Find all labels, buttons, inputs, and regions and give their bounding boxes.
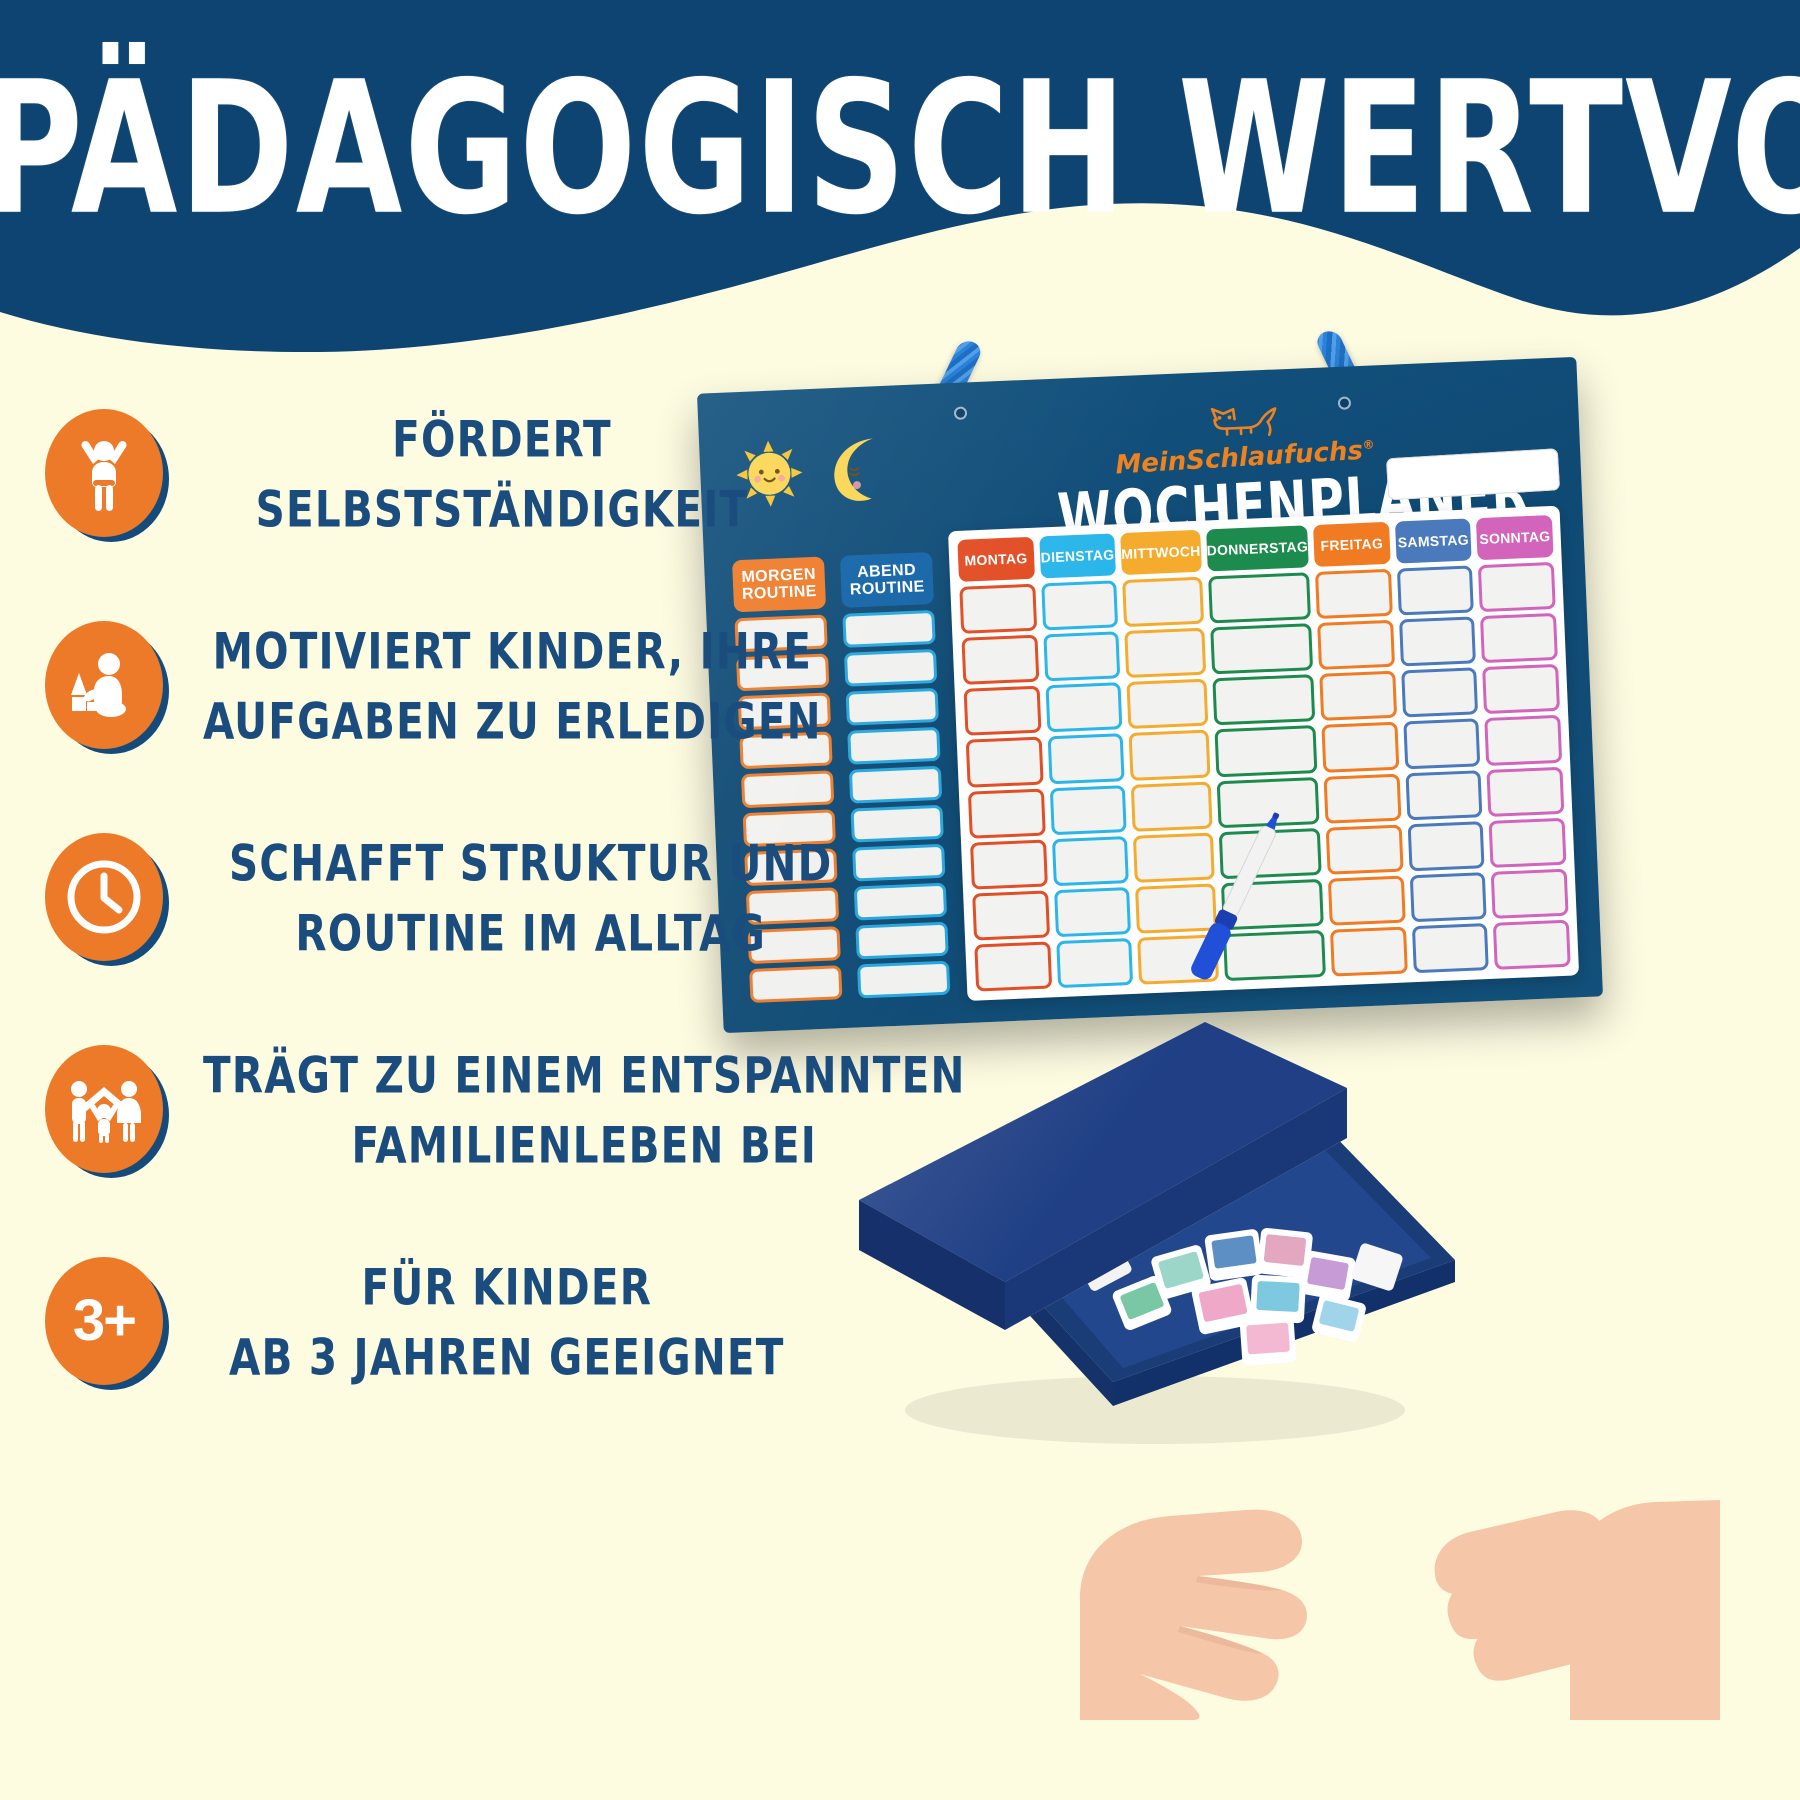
day-slot[interactable] — [1045, 682, 1123, 732]
feature-badge — [45, 833, 177, 965]
day-slot[interactable] — [1125, 628, 1206, 678]
day-slot[interactable] — [1208, 572, 1311, 623]
day-slot[interactable] — [1129, 730, 1210, 780]
fox-logo-icon — [1206, 401, 1282, 442]
feature-item-motivation: MOTIVIERT KINDER, IHRE AUFGABEN ZU ERLED… — [45, 597, 775, 777]
day-header: MONTAG — [957, 537, 1034, 582]
day-header: FREITAG — [1313, 522, 1390, 567]
day-slot-list — [1478, 562, 1571, 970]
routine-slot[interactable] — [846, 688, 939, 726]
day-slot[interactable] — [1403, 719, 1481, 769]
age-3-plus-icon: 3+ — [45, 1257, 163, 1385]
feature-label: SCHAFFT STRUKTUR UND ROUTINE IM ALLTAG — [203, 829, 832, 970]
day-slot[interactable] — [964, 686, 1042, 736]
family-icon — [45, 1045, 163, 1173]
week-grid: MONTAG DIENSTAG — [948, 506, 1579, 1001]
day-column-samstag: SAMSTAG — [1395, 518, 1489, 973]
day-slot[interactable] — [1489, 817, 1567, 867]
day-slot[interactable] — [1212, 674, 1315, 725]
day-slot[interactable] — [1131, 781, 1212, 831]
feature-item-alter: 3+ FÜR KINDER AB 3 JAHREN GEEIGNET — [45, 1233, 775, 1413]
day-slot[interactable] — [1052, 836, 1130, 886]
day-slot-list — [1397, 565, 1490, 973]
feature-label: TRÄGT ZU EINEM ENTSPANNTEN FAMILIENLEBEN… — [203, 1041, 966, 1182]
day-header: DONNERSTAG — [1206, 525, 1309, 571]
day-slot[interactable] — [1487, 766, 1565, 816]
day-slot[interactable] — [1326, 824, 1404, 874]
day-slot[interactable] — [1133, 832, 1214, 882]
age-badge-label: 3+ — [73, 1292, 135, 1350]
day-slot[interactable] — [1401, 668, 1479, 718]
feature-label: MOTIVIERT KINDER, IHRE AUFGABEN ZU ERLED… — [203, 617, 822, 758]
day-slot[interactable] — [966, 737, 1044, 787]
day-slot[interactable] — [1315, 569, 1393, 619]
page-title: PÄDAGOGISCH WERTVOLL — [0, 58, 1800, 241]
day-slot[interactable] — [970, 839, 1048, 889]
day-slot[interactable] — [1397, 565, 1475, 615]
day-slot[interactable] — [1041, 580, 1119, 630]
feature-label: FÖRDERT SELBSTSTÄNDIGKEIT — [203, 405, 775, 546]
day-slot-list — [1041, 580, 1134, 988]
routine-slot[interactable] — [842, 610, 935, 648]
feature-badge — [45, 1045, 177, 1177]
routine-slot[interactable] — [854, 883, 947, 921]
routine-slot[interactable] — [850, 805, 943, 843]
cord-eyelet-left — [954, 406, 968, 420]
clock-icon — [45, 833, 163, 961]
day-slot[interactable] — [1319, 671, 1397, 721]
routine-header: ABEND ROUTINE — [840, 552, 934, 608]
day-slot[interactable] — [1485, 715, 1563, 765]
day-slot[interactable] — [1047, 734, 1125, 784]
day-header: DIENSTAG — [1039, 533, 1116, 578]
day-slot[interactable] — [1214, 725, 1317, 776]
day-column-mittwoch: MITTWOCH — [1120, 530, 1218, 985]
day-slot[interactable] — [1210, 623, 1313, 674]
feature-item-familienleben: TRÄGT ZU EINEM ENTSPANNTEN FAMILIENLEBEN… — [45, 1021, 775, 1201]
day-slot[interactable] — [1482, 664, 1560, 714]
child-building-blocks-icon — [45, 621, 163, 749]
routine-slot[interactable] — [847, 727, 940, 765]
feature-label: FÜR KINDER AB 3 JAHREN GEEIGNET — [203, 1253, 785, 1394]
day-slot[interactable] — [1480, 613, 1558, 663]
day-slot[interactable] — [1407, 821, 1485, 871]
day-slot[interactable] — [959, 584, 1037, 634]
day-header: SAMSTAG — [1395, 518, 1472, 563]
day-column-montag: MONTAG — [957, 537, 1051, 992]
feature-item-struktur: SCHAFFT STRUKTUR UND ROUTINE IM ALLTAG — [45, 809, 775, 989]
day-header: SONNTAG — [1476, 515, 1553, 560]
day-slot[interactable] — [1491, 868, 1569, 918]
day-slot[interactable] — [968, 788, 1046, 838]
day-slot[interactable] — [961, 635, 1039, 685]
childs-hands — [930, 1160, 1720, 1720]
day-slot[interactable] — [1317, 620, 1395, 670]
feature-badge: 3+ — [45, 1257, 177, 1389]
day-slot[interactable] — [1127, 679, 1208, 729]
feature-list: FÖRDERT SELBSTSTÄNDIGKEIT MOTIV — [45, 385, 775, 1413]
day-column-sonntag: SONNTAG — [1476, 515, 1570, 970]
day-slot[interactable] — [1410, 872, 1488, 922]
day-column-dienstag: DIENSTAG — [1039, 533, 1133, 988]
day-slot[interactable] — [1322, 722, 1400, 772]
day-slot[interactable] — [1399, 616, 1477, 666]
name-input-field[interactable] — [1386, 448, 1560, 500]
day-slot[interactable] — [1043, 631, 1121, 681]
day-slot-list — [1122, 577, 1218, 985]
feature-badge — [45, 621, 177, 753]
day-slot[interactable] — [1324, 773, 1402, 823]
day-slot[interactable] — [1328, 875, 1406, 925]
feature-item-selbststaendigkeit: FÖRDERT SELBSTSTÄNDIGKEIT — [45, 385, 775, 565]
routine-slot[interactable] — [852, 844, 945, 882]
day-slot[interactable] — [1493, 920, 1571, 970]
day-slot[interactable] — [1049, 785, 1127, 835]
routine-slot[interactable] — [844, 649, 937, 687]
day-column-freitag: FREITAG — [1313, 522, 1407, 977]
day-slot[interactable] — [1405, 770, 1483, 820]
routine-slot[interactable] — [849, 766, 942, 804]
day-slot-list — [1315, 569, 1408, 977]
moon-icon — [825, 434, 890, 507]
child-arms-up-icon — [45, 409, 163, 537]
day-header: MITTWOCH — [1120, 530, 1201, 575]
feature-badge — [45, 409, 177, 541]
day-slot[interactable] — [1122, 577, 1203, 627]
day-slot[interactable] — [1478, 562, 1556, 612]
